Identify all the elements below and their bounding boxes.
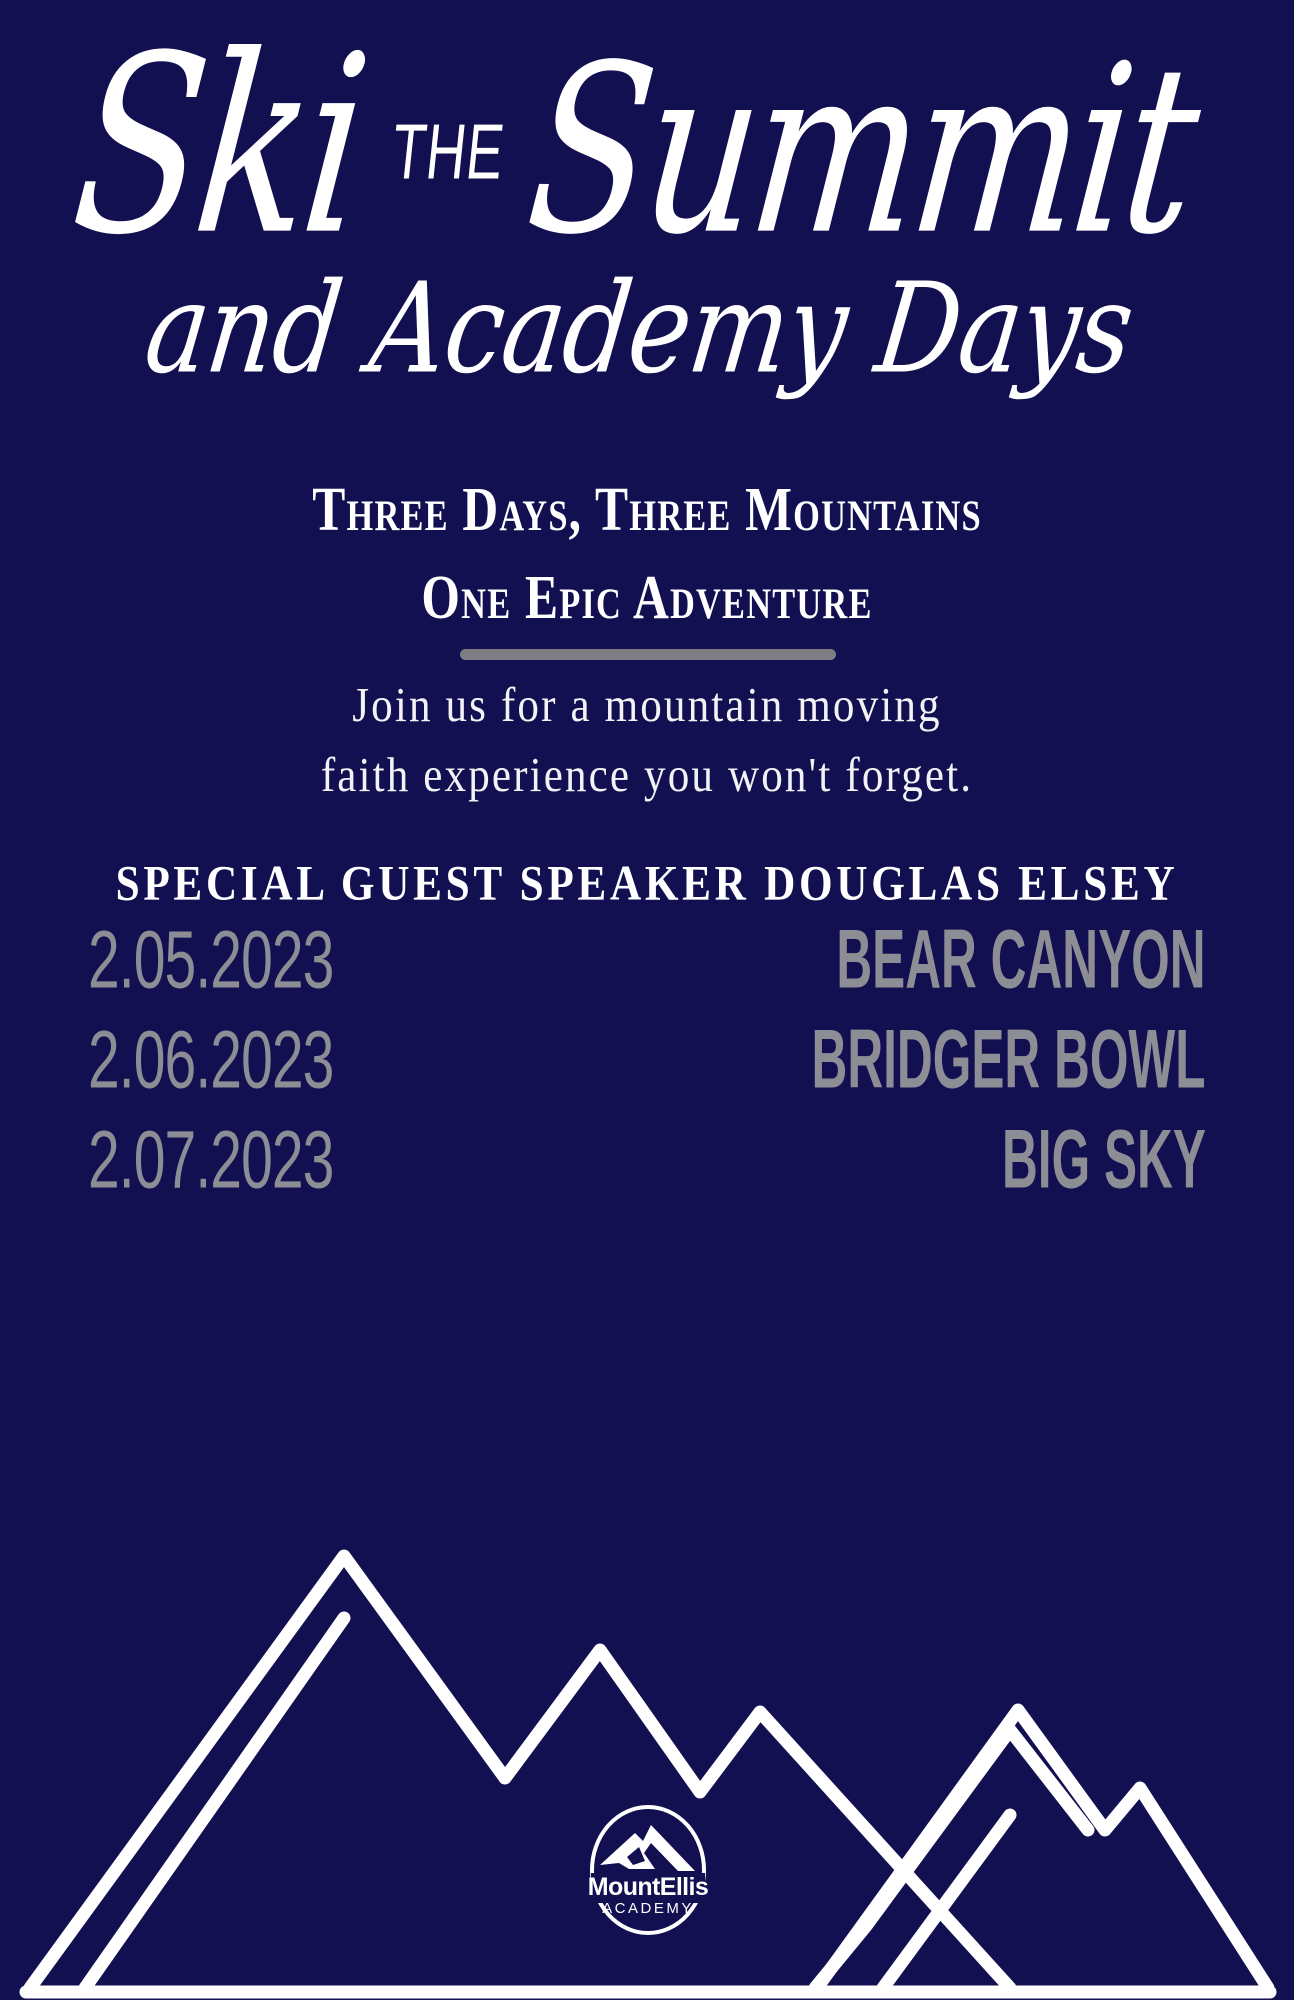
schedule-venue: BEAR CANYON xyxy=(837,919,1206,1002)
logo-subtitle-text: ACADEMY xyxy=(602,1900,694,1917)
body-copy-line-1: Join us for a mountain moving xyxy=(78,670,1217,740)
schedule-date: 2.07.2023 xyxy=(88,1120,333,1202)
tagline-line-1: Three Days, Three Mountains xyxy=(129,466,1164,554)
body-copy-line-2: faith experience you won't forget. xyxy=(78,740,1217,810)
logo-name-text: MountEllis xyxy=(588,1873,708,1901)
title-main-line: SkiTHESummit xyxy=(0,26,1294,267)
poster-canvas: SkiTHESummit and Academy Days Three Days… xyxy=(0,0,1294,2000)
title-word-the: THE xyxy=(388,115,508,192)
title-word-summit: Summit xyxy=(518,15,1205,286)
schedule-list: 2.05.2023 BEAR CANYON 2.06.2023 BRIDGER … xyxy=(88,940,1206,1240)
body-copy-block: Join us for a mountain moving faith expe… xyxy=(78,670,1217,809)
guest-speaker-heading: SPECIAL GUEST SPEAKER DOUGLAS ELSEY xyxy=(52,855,1242,912)
schedule-venue: BRIDGER BOWL xyxy=(812,1019,1206,1102)
mount-ellis-academy-logo: MountEllis ACADEMY xyxy=(583,1803,713,1938)
schedule-venue: BIG SKY xyxy=(1002,1119,1206,1202)
logo-badge-icon: MountEllis ACADEMY xyxy=(583,1803,713,1938)
section-divider xyxy=(460,649,836,660)
title-word-ski: Ski xyxy=(63,2,375,288)
schedule-date: 2.05.2023 xyxy=(88,920,333,1002)
schedule-date: 2.06.2023 xyxy=(88,1020,333,1102)
logo-mountain-icon xyxy=(600,1825,695,1871)
tagline-line-2: One Epic Adventure xyxy=(129,554,1164,642)
poster-title-block: SkiTHESummit and Academy Days xyxy=(0,0,1294,370)
tagline-block: Three Days, Three Mountains One Epic Adv… xyxy=(129,466,1164,642)
schedule-row: 2.07.2023 BIG SKY xyxy=(88,1140,1206,1240)
title-subtitle: and Academy Days xyxy=(0,266,1294,391)
